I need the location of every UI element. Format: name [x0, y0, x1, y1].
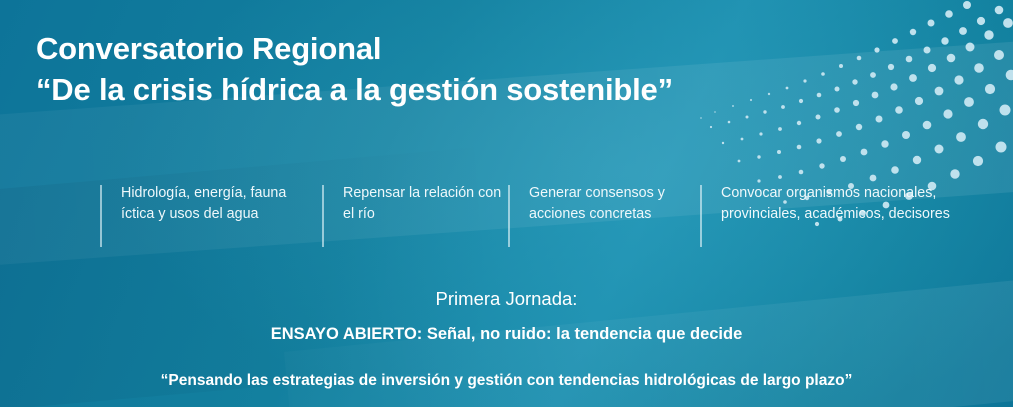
- headline-line-2: “De la crisis hídrica a la gestión soste…: [36, 69, 673, 110]
- page-title: Conversatorio Regional“De la crisis hídr…: [36, 28, 673, 110]
- pillar-item: Repensar la relación con el río: [322, 183, 508, 224]
- pillar-item: Generar consensos y acciones concretas: [508, 183, 700, 224]
- pillar-item: Convocar organismos nacionales, provinci…: [700, 183, 950, 224]
- session-subtitle: “Pensando las estrategias de inversión y…: [0, 372, 1013, 391]
- session-label: Primera Jornada:: [0, 288, 1013, 310]
- pillar-list: Hidrología, energía, fauna íctica y usos…: [100, 183, 955, 275]
- pillar-item: Hidrología, energía, fauna íctica y usos…: [100, 183, 322, 224]
- event-banner: Conversatorio Regional“De la crisis hídr…: [0, 0, 1013, 407]
- headline-line-1: Conversatorio Regional: [36, 31, 381, 66]
- session-title: ENSAYO ABIERTO: Señal, no ruido: la tend…: [0, 325, 1013, 345]
- session-block: Primera Jornada: ENSAYO ABIERTO: Señal, …: [0, 288, 1013, 391]
